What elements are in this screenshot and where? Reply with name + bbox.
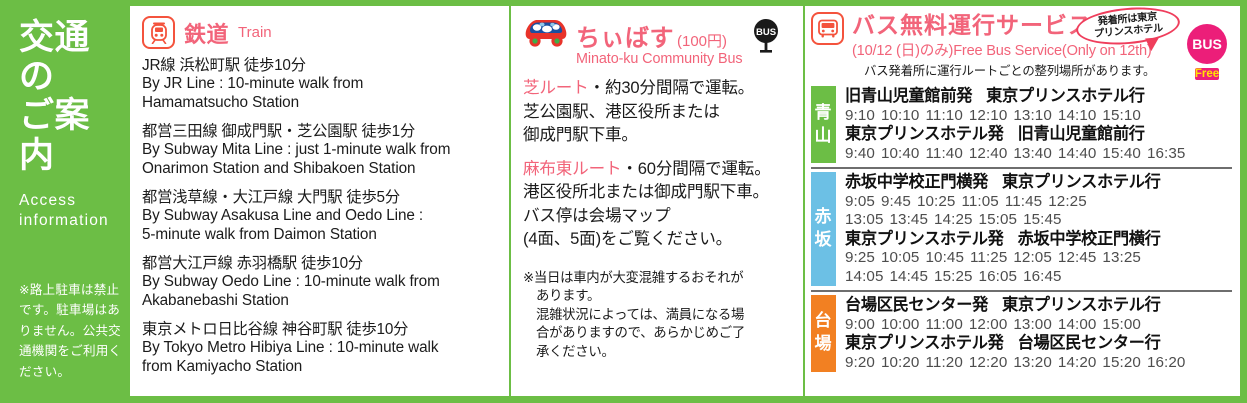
time-value: 16:45 <box>1023 268 1062 286</box>
time-value: 12:20 <box>969 354 1008 372</box>
direction-title: 旧青山児童館前発東京プリンスホテル行 <box>845 87 1232 107</box>
direction-title: 東京プリンスホテル発台場区民センター行 <box>845 334 1232 354</box>
train-route-item: 都営三田線 御成門駅・芝公園駅 徒歩1分 By Subway Mita Line… <box>142 122 499 179</box>
route-jp: JR線 浜松町駅 徒歩10分 <box>142 56 499 75</box>
time-value: 15:40 <box>1102 145 1141 163</box>
time-value: 10:00 <box>881 316 920 334</box>
route-en-line2: Hamamatsucho Station <box>142 94 499 113</box>
time-value: 13:00 <box>1013 316 1052 334</box>
time-value: 11:25 <box>970 249 1007 267</box>
community-bus-title-en: Minato-ku Community Bus <box>576 51 742 67</box>
bus-schedule-list: 青 山 旧青山児童館前発東京プリンスホテル行 9:1010:1011:1012:… <box>811 83 1232 375</box>
route-en-line1: By JR Line : 10-minute walk from <box>142 75 499 94</box>
time-value: 10:05 <box>881 249 920 267</box>
shiba-route-line3: 御成門駅下車。 <box>523 123 793 147</box>
route-en-line2: Onarimon Station and Shibakoen Station <box>142 160 499 179</box>
route-en-line1: By Subway Mita Line : just 1-minute walk… <box>142 141 499 160</box>
direction-origin: 東京プリンスホテル発 <box>845 125 1004 143</box>
time-value: 12:05 <box>1013 249 1052 267</box>
parking-notice: ※路上駐車は禁止です。駐車場はありません。公共交通機関をご利用ください。 <box>19 280 122 386</box>
train-title-en: Train <box>238 24 272 41</box>
departure-times: 9:2510:0510:4511:2512:0512:4513:2514:051… <box>845 249 1232 285</box>
train-section-header: 鉄道 Train <box>142 16 499 49</box>
community-bus-car-icon <box>523 16 569 55</box>
time-value: 14:25 <box>934 211 973 229</box>
train-route-item: 都営浅草線・大江戸線 大門駅 徒歩5分 By Subway Asakusa Li… <box>142 188 499 245</box>
direction-origin: 旧青山児童館前発 <box>845 87 972 105</box>
azabuhigashi-route-line4: (4面、5面)をご覧ください。 <box>523 227 793 251</box>
time-value: 15:05 <box>979 211 1018 229</box>
train-icon <box>142 16 175 49</box>
time-value: 14:00 <box>1058 316 1097 334</box>
train-route-item: 東京メトロ日比谷線 神谷町駅 徒歩10分 By Tokyo Metro Hibi… <box>142 320 499 377</box>
time-value: 14:10 <box>1058 107 1097 125</box>
time-value: 13:40 <box>1013 145 1052 163</box>
azabuhigashi-route-line2: 港区役所北または御成門駅下車。 <box>523 180 793 204</box>
area-char-2: 場 <box>815 333 833 356</box>
direction-origin: 東京プリンスホテル発 <box>845 230 1004 248</box>
time-value: 11:40 <box>925 145 962 163</box>
area-tab-akasaka: 赤 坂 <box>811 172 836 285</box>
train-route-list: JR線 浜松町駅 徒歩10分 By JR Line : 10-minute wa… <box>142 56 499 377</box>
shiba-route-line2: 芝公園駅、港区役所または <box>523 100 793 124</box>
area-tab-aoyama: 青 山 <box>811 86 836 163</box>
crowding-notice: ※当日は車内が大変混雑するおそれが あります。 混雑状況によっては、満員になる場… <box>523 269 793 362</box>
schedule-block-akasaka: 赤 坂 赤坂中学校正門横発東京プリンスホテル行 9:059:4510:2511:… <box>811 167 1232 289</box>
azabuhigashi-route-line1: 麻布東ルート・60分間隔で運転。 <box>523 157 793 181</box>
route-jp: 都営三田線 御成門駅・芝公園駅 徒歩1分 <box>142 122 499 141</box>
time-value: 13:05 <box>845 211 884 229</box>
page-title: 交通の ご案内 <box>19 18 122 175</box>
time-value: 15:25 <box>934 268 973 286</box>
direction-title: 赤坂中学校正門横発東京プリンスホテル行 <box>845 173 1232 193</box>
time-value: 14:45 <box>890 268 929 286</box>
direction-title: 東京プリンスホテル発旧青山児童館前行 <box>845 125 1232 145</box>
departure-times: 9:2010:2011:2012:2013:2014:2015:2016:20 <box>845 354 1232 372</box>
departure-times: 9:4010:4011:4012:4013:4014:4015:4016:35 <box>845 145 1232 163</box>
page-title-line1: 交通の <box>19 18 122 96</box>
schedule-body: 赤坂中学校正門横発東京プリンスホテル行 9:059:4510:2511:0511… <box>845 172 1232 285</box>
time-value: 11:10 <box>925 107 962 125</box>
bus-icon <box>811 12 844 45</box>
time-value: 10:20 <box>881 354 920 372</box>
route-en-line2: Akabanebashi Station <box>142 292 499 311</box>
time-value: 14:05 <box>845 268 884 286</box>
direction-title: 台場区民センター発東京プリンスホテル行 <box>845 296 1232 316</box>
time-value: 15:20 <box>1102 354 1141 372</box>
free-bus-section: バス無料運行サービス (10/12 (日)のみ)Free Bus Service… <box>805 6 1240 396</box>
time-value: 15:45 <box>1023 211 1062 229</box>
route-jp: 東京メトロ日比谷線 神谷町駅 徒歩10分 <box>142 320 499 339</box>
community-bus-title-jp: ちぃばす <box>576 18 674 53</box>
svg-text:BUS: BUS <box>756 27 776 38</box>
access-information-panel: 交通の ご案内 Access information ※路上駐車は禁止です。駐車… <box>0 0 1247 403</box>
area-char-1: 青 <box>815 102 833 125</box>
area-char-1: 赤 <box>815 206 833 229</box>
azabuhigashi-route-tag: 麻布東ルート <box>523 159 621 178</box>
time-value: 13:45 <box>890 211 929 229</box>
direction-destination: 台場区民センター行 <box>1018 334 1161 352</box>
direction-origin: 赤坂中学校正門横発 <box>845 173 988 191</box>
time-value: 10:10 <box>881 107 920 125</box>
crowding-notice-line1: ※当日は車内が大変混雑するおそれが <box>523 269 793 288</box>
azabuhigashi-route-line3: バス停は会場マップ <box>523 204 793 228</box>
direction-origin: 台場区民センター発 <box>845 296 988 314</box>
time-value: 10:45 <box>925 249 964 267</box>
time-value: 12:00 <box>969 316 1008 334</box>
time-value: 12:45 <box>1058 249 1097 267</box>
direction-origin: 東京プリンスホテル発 <box>845 334 1004 352</box>
shiba-route-interval: ・約30分間隔で運転。 <box>589 78 755 97</box>
schedule-block-aoyama: 青 山 旧青山児童館前発東京プリンスホテル行 9:1010:1011:1012:… <box>811 83 1232 167</box>
time-value: 11:05 <box>961 193 998 211</box>
free-bus-header: バス無料運行サービス (10/12 (日)のみ)Free Bus Service… <box>811 12 1232 79</box>
time-value: 12:40 <box>969 145 1008 163</box>
time-value: 16:20 <box>1147 354 1186 372</box>
azabuhigashi-route-interval: ・60分間隔で運転。 <box>621 159 770 178</box>
shiba-route-info: 芝ルート・約30分間隔で運転。 芝公園駅、港区役所または 御成門駅下車。 <box>523 76 793 147</box>
community-bus-header: ちぃばす (100円) Minato-ku Community Bus BUS <box>523 16 793 67</box>
route-en-line2: from Kamiyacho Station <box>142 358 499 377</box>
time-value: 9:20 <box>845 354 875 372</box>
route-en-line1: By Tokyo Metro Hibiya Line : 10-minute w… <box>142 339 499 358</box>
departure-times: 9:059:4510:2511:0511:4512:2513:0513:4514… <box>845 193 1232 229</box>
time-value: 9:45 <box>881 193 911 211</box>
direction-destination: 東京プリンスホテル行 <box>1002 173 1161 191</box>
schedule-block-odaiba: 台 場 台場区民センター発東京プリンスホテル行 9:0010:0011:0012… <box>811 290 1232 376</box>
train-route-item: 都営大江戸線 赤羽橋駅 徒歩10分 By Subway Oedo Line : … <box>142 254 499 311</box>
time-value: 15:10 <box>1102 107 1141 125</box>
direction-destination: 東京プリンスホテル行 <box>986 87 1145 105</box>
community-bus-price: (100円) <box>677 30 727 51</box>
free-bus-stop-sign-icon: BUS Free <box>1184 24 1230 82</box>
time-value: 14:20 <box>1058 354 1097 372</box>
time-value: 12:25 <box>1048 193 1087 211</box>
azabuhigashi-route-info: 麻布東ルート・60分間隔で運転。 港区役所北または御成門駅下車。 バス停は会場マ… <box>523 157 793 251</box>
time-value: 9:05 <box>845 193 875 211</box>
area-char-2: 山 <box>815 125 833 148</box>
page-title-line2: ご案内 <box>19 96 122 174</box>
free-bus-sign-label: BUS <box>1187 24 1227 64</box>
train-route-item: JR線 浜松町駅 徒歩10分 By JR Line : 10-minute wa… <box>142 56 499 113</box>
time-value: 11:00 <box>925 316 962 334</box>
departure-times: 9:0010:0011:0012:0013:0014:0015:00 <box>845 316 1232 334</box>
departure-times: 9:1010:1011:1012:1013:1014:1015:10 <box>845 107 1232 125</box>
route-en-line1: By Subway Asakusa Line and Oedo Line : <box>142 207 499 226</box>
time-value: 9:00 <box>845 316 875 334</box>
sidebar: 交通の ご案内 Access information ※路上駐車は禁止です。駐車… <box>7 6 130 396</box>
free-bus-queue-note: バス発着所に運行ルートごとの整列場所があります。 <box>852 61 1155 79</box>
time-value: 9:40 <box>845 145 875 163</box>
time-value: 16:05 <box>979 268 1018 286</box>
page-subtitle-line1: Access <box>19 191 122 211</box>
route-jp: 都営大江戸線 赤羽橋駅 徒歩10分 <box>142 254 499 273</box>
area-char-1: 台 <box>815 310 833 333</box>
content-area: 鉄道 Train JR線 浜松町駅 徒歩10分 By JR Line : 10-… <box>130 6 1240 396</box>
train-section: 鉄道 Train JR線 浜松町駅 徒歩10分 By JR Line : 10-… <box>130 6 509 396</box>
time-value: 14:40 <box>1058 145 1097 163</box>
page-subtitle: Access information <box>19 191 122 231</box>
time-value: 10:25 <box>917 193 956 211</box>
route-en-line1: By Subway Oedo Line : 10-minute walk fro… <box>142 273 499 292</box>
crowding-notice-line4: 合がありますので、あらかじめご了 <box>523 324 793 343</box>
shiba-route-tag: 芝ルート <box>523 78 589 97</box>
time-value: 10:40 <box>881 145 920 163</box>
crowding-notice-line5: 承ください。 <box>523 343 793 362</box>
area-tab-odaiba: 台 場 <box>811 295 836 372</box>
community-bus-section: ちぃばす (100円) Minato-ku Community Bus BUS <box>509 6 805 396</box>
route-en-line2: 5-minute walk from Daimon Station <box>142 226 499 245</box>
time-value: 13:25 <box>1102 249 1141 267</box>
time-value: 11:20 <box>925 354 962 372</box>
departure-point-bubble: 発着所は東京 プリンスホテル <box>1075 4 1182 49</box>
time-value: 11:45 <box>1005 193 1042 211</box>
page-subtitle-line2: information <box>19 211 122 231</box>
time-value: 9:10 <box>845 107 875 125</box>
time-value: 16:35 <box>1147 145 1186 163</box>
schedule-body: 旧青山児童館前発東京プリンスホテル行 9:1010:1011:1012:1013… <box>845 86 1232 163</box>
crowding-notice-line3: 混雑状況によっては、満員になる場 <box>523 306 793 325</box>
community-bus-titles: ちぃばす (100円) Minato-ku Community Bus <box>576 16 742 67</box>
direction-destination: 旧青山児童館前行 <box>1018 125 1145 143</box>
time-value: 13:10 <box>1013 107 1052 125</box>
time-value: 15:00 <box>1102 316 1141 334</box>
time-value: 12:10 <box>969 107 1008 125</box>
train-title-jp: 鉄道 <box>184 17 229 49</box>
direction-destination: 東京プリンスホテル行 <box>1002 296 1161 314</box>
direction-destination: 赤坂中学校正門横行 <box>1018 230 1161 248</box>
time-value: 13:20 <box>1013 354 1052 372</box>
shiba-route-line1: 芝ルート・約30分間隔で運転。 <box>523 76 793 100</box>
bus-stop-sign-icon: BUS <box>751 16 781 59</box>
route-jp: 都営浅草線・大江戸線 大門駅 徒歩5分 <box>142 188 499 207</box>
schedule-body: 台場区民センター発東京プリンスホテル行 9:0010:0011:0012:001… <box>845 295 1232 372</box>
area-char-2: 坂 <box>815 229 833 252</box>
free-badge-label: Free <box>1195 68 1219 80</box>
time-value: 9:25 <box>845 249 875 267</box>
direction-title: 東京プリンスホテル発赤坂中学校正門横行 <box>845 230 1232 250</box>
crowding-notice-line2: あります。 <box>523 287 793 306</box>
